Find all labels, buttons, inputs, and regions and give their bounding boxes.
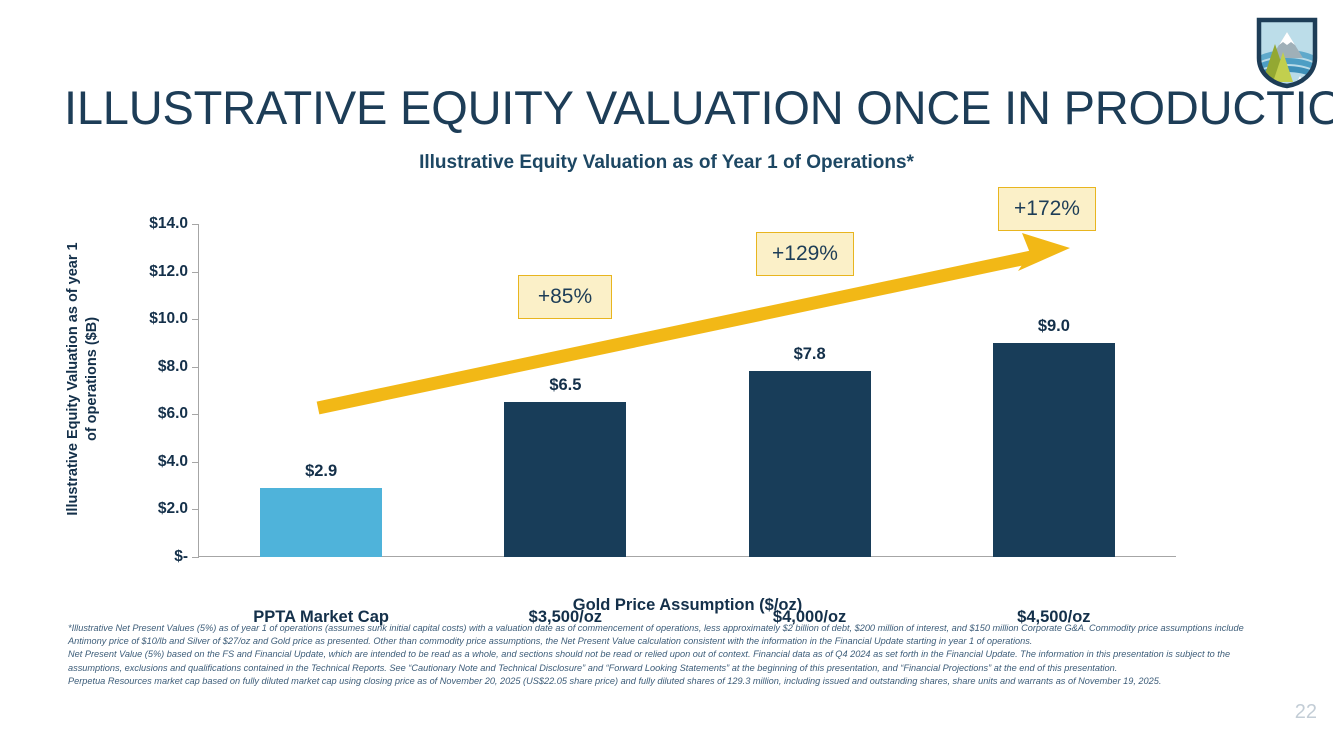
y-axis-tick — [192, 367, 199, 368]
bar-value-label: $2.9 — [199, 462, 443, 481]
callout-129: +129% — [756, 232, 854, 276]
y-tick-label: $4.0 — [98, 453, 188, 471]
callout-85: +85% — [518, 275, 612, 319]
y-axis-tick — [192, 224, 199, 225]
y-tick-label: $2.0 — [98, 500, 188, 518]
y-axis-tick-labels: $-$2.0$4.0$6.0$8.0$10.0$12.0$14.0 — [48, 185, 188, 565]
bar-1[interactable] — [260, 488, 382, 557]
y-tick-label: $14.0 — [98, 215, 188, 233]
bar-group: $9.0$4,500/oz — [932, 224, 1176, 557]
bar-group: $2.9PPTA Market Cap — [199, 224, 443, 557]
footnote-line: Net Present Value (5%) based on the FS a… — [68, 648, 1283, 674]
y-axis-tick — [192, 414, 199, 415]
bar-2[interactable] — [504, 402, 626, 557]
bar-value-label: $6.5 — [443, 376, 687, 395]
y-tick-label: $12.0 — [98, 263, 188, 281]
callout-label: +85% — [538, 285, 592, 309]
y-axis-tick — [192, 319, 199, 320]
bar-value-label: $7.8 — [688, 345, 932, 364]
y-tick-label: $- — [98, 548, 188, 566]
y-axis-tick — [192, 462, 199, 463]
page-title: ILLUSTRATIVE EQUITY VALUATION ONCE IN PR… — [64, 78, 1284, 138]
x-axis-title: Gold Price Assumption ($/oz) — [199, 596, 1176, 615]
y-axis-tick — [192, 272, 199, 273]
y-axis-tick — [192, 557, 199, 558]
y-tick-label: $10.0 — [98, 310, 188, 328]
bar-group: $6.5$3,500/oz — [443, 224, 687, 557]
footnote-line: Perpetua Resources market cap based on f… — [68, 675, 1283, 688]
page-number: 22 — [1295, 701, 1317, 724]
y-tick-label: $8.0 — [98, 358, 188, 376]
footnotes: *Illustrative Net Present Values (5%) as… — [68, 622, 1283, 688]
bar-3[interactable] — [749, 371, 871, 557]
y-axis-tick — [192, 509, 199, 510]
bar-4[interactable] — [993, 343, 1115, 557]
callout-label: +129% — [772, 242, 838, 266]
bar-value-label: $9.0 — [932, 317, 1176, 336]
callout-172: +172% — [998, 187, 1096, 231]
chart-title: Illustrative Equity Valuation as of Year… — [0, 152, 1333, 174]
callout-label: +172% — [1014, 197, 1080, 221]
plot-area: $2.9PPTA Market Cap$6.5$3,500/oz$7.8$4,0… — [199, 224, 1176, 557]
footnote-line: *Illustrative Net Present Values (5%) as… — [68, 622, 1283, 648]
y-tick-label: $6.0 — [98, 405, 188, 423]
bar-chart: Illustrative Equity Valuation as of year… — [0, 185, 1333, 615]
